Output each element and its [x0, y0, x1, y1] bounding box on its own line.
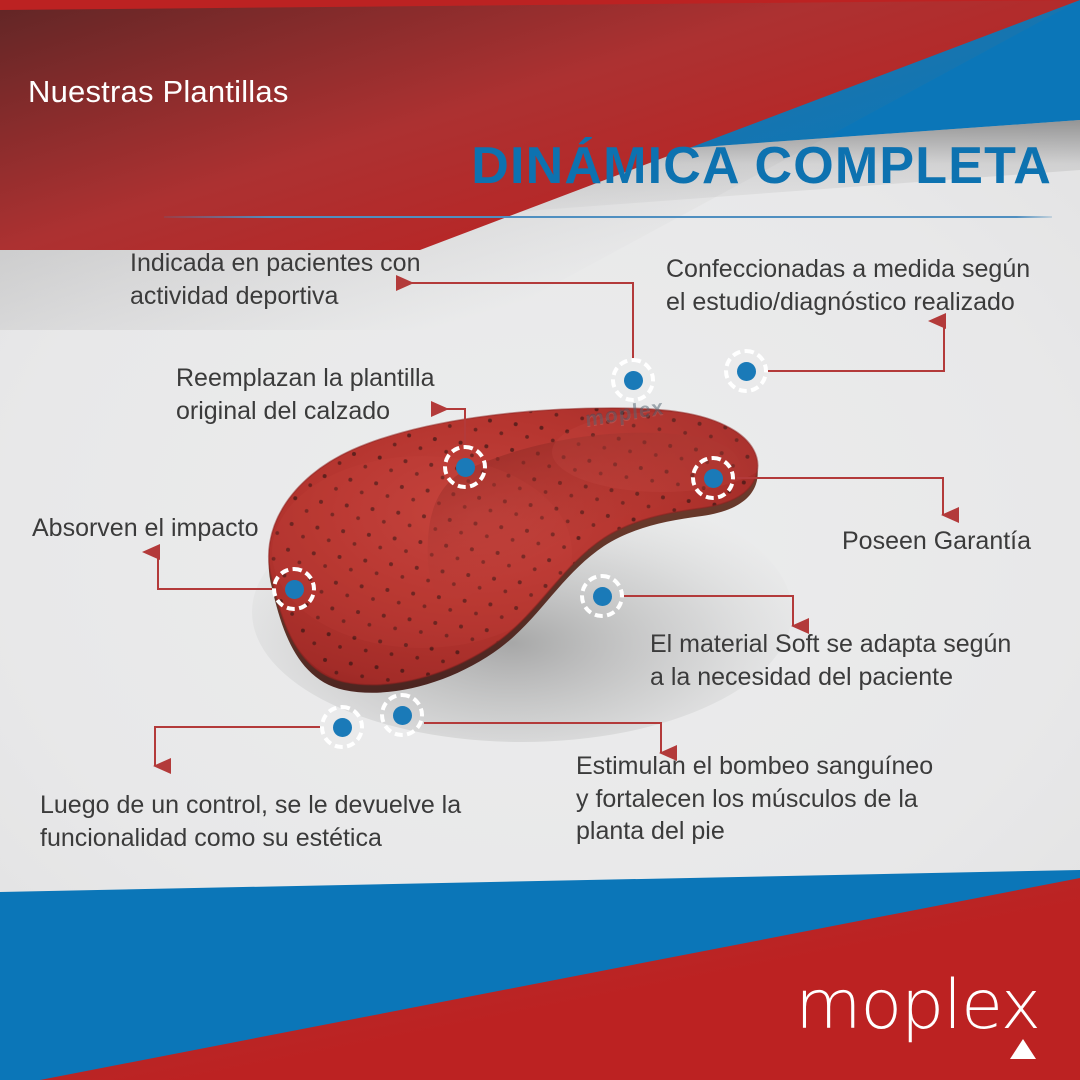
brand-logo: moplex — [795, 972, 1040, 1040]
marker-bombeo[interactable] — [380, 693, 424, 737]
marker-dot-icon — [704, 469, 723, 488]
insole-toe-highlight — [552, 412, 772, 492]
title-underline-rule — [164, 216, 1052, 218]
marker-soft[interactable] — [580, 574, 624, 618]
callout-impacto: Absorven el impacto — [32, 512, 259, 545]
marker-dot-icon — [456, 458, 475, 477]
brand-logo-triangle-icon — [1010, 1039, 1036, 1059]
callout-reemplazan: Reemplazan la plantilla original del cal… — [176, 362, 434, 427]
brand-logo-wordmark: moplex — [795, 972, 1040, 1040]
marker-control[interactable] — [320, 705, 364, 749]
marker-dot-icon — [593, 587, 612, 606]
marker-garantia[interactable] — [691, 456, 735, 500]
callout-soft: El material Soft se adapta según a la ne… — [650, 628, 1011, 693]
callout-garantia: Poseen Garantía — [842, 525, 1031, 558]
brand-logo-text: moplex — [795, 966, 1040, 1045]
callout-control: Luego de un control, se le devuelve la f… — [40, 789, 461, 854]
marker-medida[interactable] — [611, 358, 655, 402]
marker-dot-icon — [624, 371, 643, 390]
callout-deportiva: Indicada en pacientes con actividad depo… — [130, 247, 421, 312]
marker-dot-icon — [333, 718, 352, 737]
marker-dot-icon — [285, 580, 304, 599]
connector-deportiva — [398, 283, 633, 362]
callout-bombeo: Estimulan el bombeo sanguíneo y fortalec… — [576, 750, 933, 848]
marker-dot-icon — [393, 706, 412, 725]
marker-reemplazan[interactable] — [443, 445, 487, 489]
page-title: DINÁMICA COMPLETA — [471, 136, 1052, 196]
marker-impacto[interactable] — [272, 567, 316, 611]
marker-deportiva[interactable] — [724, 349, 768, 393]
infographic-poster: Nuestras Plantillas DINÁMICA COMPLETA — [0, 0, 1080, 1080]
marker-dot-icon — [737, 362, 756, 381]
page-kicker: Nuestras Plantillas — [28, 74, 289, 110]
callout-medida: Confeccionadas a medida según el estudio… — [666, 253, 1030, 318]
